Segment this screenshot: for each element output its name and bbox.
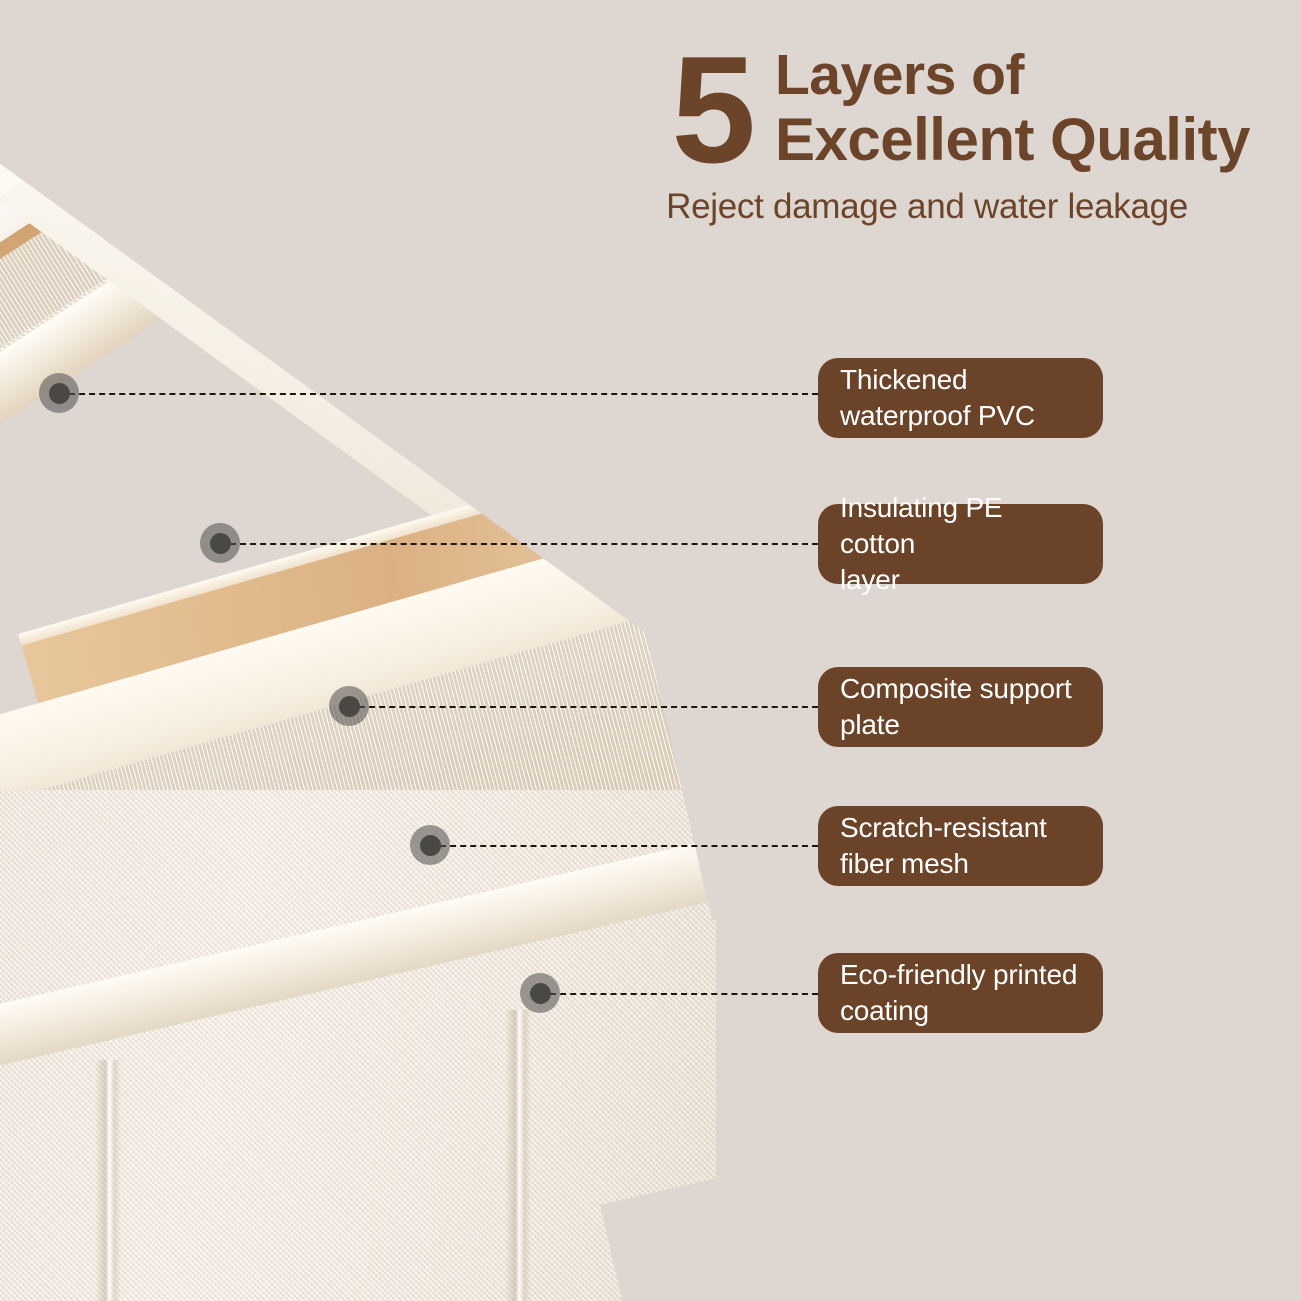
callout-label-line-1: Eco-friendly printed xyxy=(840,959,1077,990)
leader-line-composite-support-plate xyxy=(349,706,818,708)
marker-dot-eco-friendly-printed-coating xyxy=(520,973,560,1013)
callout-label-line-2: waterproof PVC xyxy=(840,400,1035,431)
callout-label-line-2: fiber mesh xyxy=(840,848,969,879)
subheadline: Reject damage and water leakage xyxy=(470,187,1250,227)
callout-label-line-2: layer xyxy=(840,564,900,595)
headline-number: 5 xyxy=(671,48,753,173)
infographic-poster: 5 Layers of Excellent Quality Reject dam… xyxy=(0,0,1301,1301)
callout-label-line-1: Insulating PE cotton xyxy=(840,492,1002,559)
callout-eco-friendly-printed-coating[interactable]: Eco-friendly printedcoating xyxy=(818,953,1103,1033)
headline-lines: Layers of Excellent Quality xyxy=(775,44,1250,173)
leader-line-scratch-resistant-fiber-mesh xyxy=(430,845,818,847)
callout-label-line-2: plate xyxy=(840,709,900,740)
leader-line-insulating-pe-cotton-layer xyxy=(220,543,818,545)
leader-line-eco-friendly-printed-coating xyxy=(540,993,818,995)
callout-label-eco-friendly-printed-coating: Eco-friendly printedcoating xyxy=(840,957,1077,1029)
callout-label-line-2: coating xyxy=(840,995,929,1026)
leader-line-thickened-waterproof-pvc xyxy=(59,393,818,395)
callout-thickened-waterproof-pvc[interactable]: Thickenedwaterproof PVC xyxy=(818,358,1103,438)
callout-composite-support-plate[interactable]: Composite supportplate xyxy=(818,667,1103,747)
photo-shell-front-crease-2 xyxy=(505,1010,531,1301)
callout-label-insulating-pe-cotton-layer: Insulating PE cottonlayer xyxy=(840,490,1081,597)
marker-dot-thickened-waterproof-pvc xyxy=(39,373,79,413)
callout-insulating-pe-cotton-layer[interactable]: Insulating PE cottonlayer xyxy=(818,504,1103,584)
callout-label-line-1: Scratch-resistant xyxy=(840,812,1047,843)
marker-dot-scratch-resistant-fiber-mesh xyxy=(410,825,450,865)
callout-label-line-1: Thickened xyxy=(840,364,967,395)
headline-block: 5 Layers of Excellent Quality Reject dam… xyxy=(470,44,1250,227)
callout-label-thickened-waterproof-pvc: Thickenedwaterproof PVC xyxy=(840,362,1035,434)
photo-shell-front-crease xyxy=(95,1060,121,1301)
marker-dot-insulating-pe-cotton-layer xyxy=(200,523,240,563)
headline-row: 5 Layers of Excellent Quality xyxy=(470,44,1250,173)
marker-dot-composite-support-plate xyxy=(329,686,369,726)
headline-line-1: Layers of xyxy=(775,44,1250,107)
callout-label-composite-support-plate: Composite supportplate xyxy=(840,671,1072,743)
headline-line-2: Excellent Quality xyxy=(775,107,1250,173)
callout-label-line-1: Composite support xyxy=(840,673,1072,704)
callout-scratch-resistant-fiber-mesh[interactable]: Scratch-resistantfiber mesh xyxy=(818,806,1103,886)
callout-label-scratch-resistant-fiber-mesh: Scratch-resistantfiber mesh xyxy=(840,810,1047,882)
